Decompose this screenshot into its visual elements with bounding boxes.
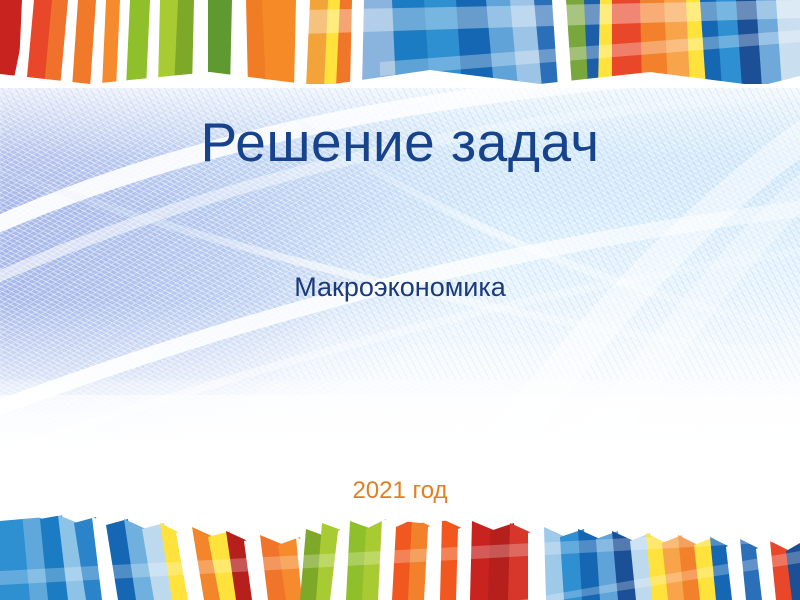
top-band-shards <box>0 0 800 88</box>
top-decorative-band <box>0 0 800 88</box>
bottom-band-shards <box>0 511 800 600</box>
presentation-title-slide: Решение задач Макроэкономика 2021 год <box>0 0 800 600</box>
slide-subtitle: Макроэкономика <box>0 272 800 303</box>
page-title: Решение задач <box>0 112 800 173</box>
slide-year: 2021 год <box>0 477 800 505</box>
bottom-decorative-band <box>0 511 800 600</box>
